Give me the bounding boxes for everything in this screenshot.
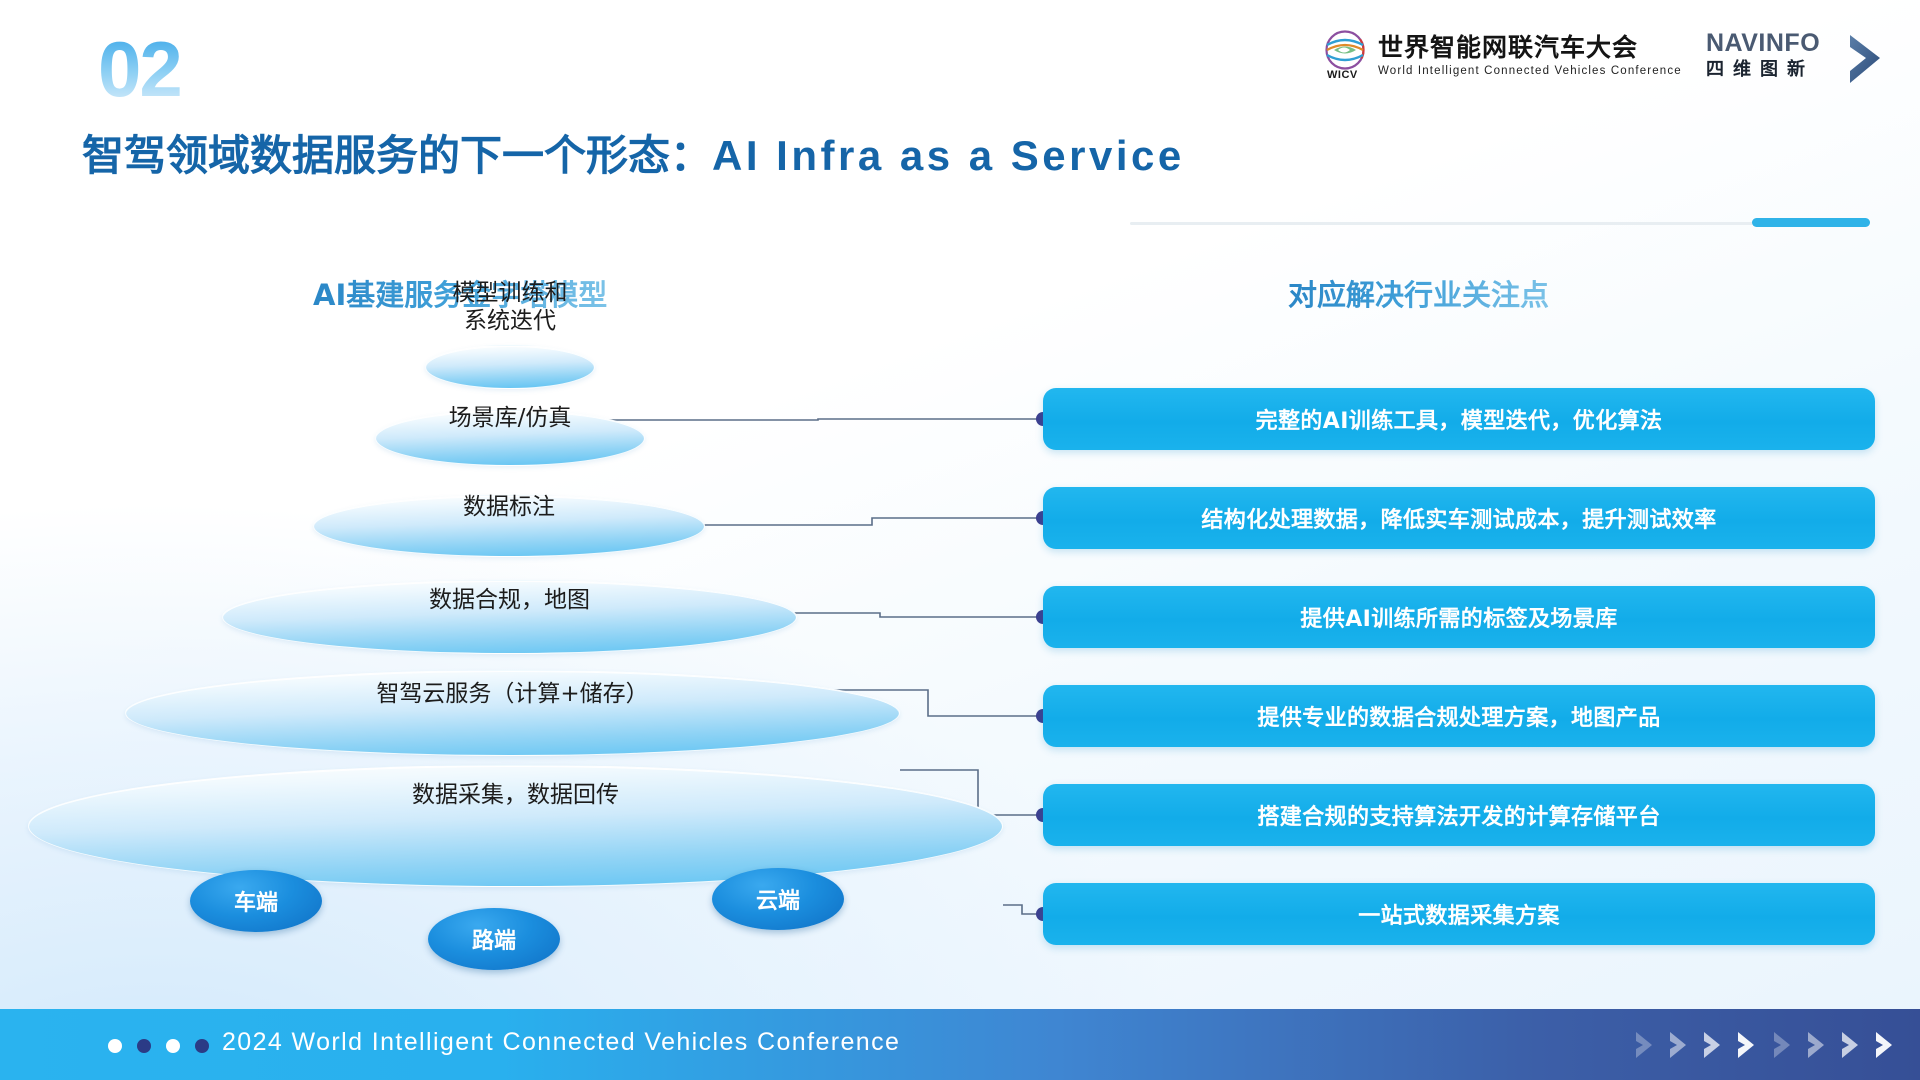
pyramid-layer-label: 数据合规，地图: [222, 586, 797, 614]
right-column-heading: 对应解决行业关注点: [1288, 272, 1549, 314]
section-number: 02: [98, 30, 181, 108]
footer-chevron-group: [1772, 1031, 1904, 1059]
pyramid-layer-label: 数据采集，数据回传: [28, 781, 1003, 809]
footer-dot: [137, 1039, 151, 1053]
chevron-right-icon: [1806, 1031, 1836, 1059]
footer-text: 2024 World Intelligent Connected Vehicle…: [222, 1028, 900, 1057]
title-divider-accent: [1752, 218, 1870, 227]
page-title-cn: 智驾领域数据服务的下一个形态：: [82, 131, 712, 180]
chevron-right-icon: [1874, 1031, 1904, 1059]
footer-dot: [108, 1039, 122, 1053]
navinfo-logo: NAVINFO 四维图新: [1706, 31, 1884, 87]
pyramid-layer-label: 场景库/仿真: [375, 404, 645, 432]
solution-bar[interactable]: 一站式数据采集方案: [1043, 883, 1875, 945]
page-title-en: AI Infra as a Service: [712, 132, 1185, 179]
pyramid-layer-data-compliance-map[interactable]: 数据合规，地图: [222, 580, 797, 654]
wicv-globe-icon: WICV: [1322, 30, 1368, 82]
pyramid-layer-label: 智驾云服务（计算+储存）: [125, 680, 900, 708]
wicv-title-cn: 世界智能网联汽车大会: [1378, 35, 1682, 61]
wicv-title-en: World Intelligent Connected Vehicles Con…: [1378, 65, 1682, 77]
chevron-right-icon: [1736, 1031, 1766, 1059]
solution-bar[interactable]: 提供专业的数据合规处理方案，地图产品: [1043, 685, 1875, 747]
pyramid-layer-label: 数据标注: [313, 493, 705, 521]
pyramid-layer-scenario-simulation[interactable]: 场景库/仿真: [375, 410, 645, 466]
pyramid-node-cloud[interactable]: 云端: [712, 868, 844, 930]
page-title: 智驾领域数据服务的下一个形态：AI Infra as a Service: [82, 122, 1185, 183]
footer-dot: [166, 1039, 180, 1053]
solution-bar[interactable]: 提供AI训练所需的标签及场景库: [1043, 586, 1875, 648]
chevron-right-icon: [1668, 1031, 1698, 1059]
solution-bar[interactable]: 搭建合规的支持算法开发的计算存储平台: [1043, 784, 1875, 846]
footer-dot: [195, 1039, 209, 1053]
chevron-right-icon: [1840, 1031, 1870, 1059]
pyramid-node-vehicle[interactable]: 车端: [190, 870, 322, 932]
pyramid-layer-data-annotation[interactable]: 数据标注: [313, 495, 705, 557]
wicv-abbr: WICV: [1327, 69, 1358, 81]
slide-footer: 2024 World Intelligent Connected Vehicle…: [0, 1009, 1920, 1080]
pyramid-node-roadside[interactable]: 路端: [428, 908, 560, 970]
pyramid-layer-data-collection[interactable]: 数据采集，数据回传: [28, 765, 1003, 887]
pyramid-layer-model-training[interactable]: 模型训练和 系统迭代: [425, 345, 595, 389]
solution-bar[interactable]: 结构化处理数据，降低实车测试成本，提升测试效率: [1043, 487, 1875, 549]
footer-chevron-group: [1634, 1031, 1766, 1059]
pyramid-diagram: 模型训练和 系统迭代 场景库/仿真 数据标注 数据合规，地图 智驾云服务（计算+…: [0, 330, 1010, 960]
pyramid-layer-ellipse: [425, 345, 595, 389]
slide-canvas: WICV 世界智能网联汽车大会 World Intelligent Connec…: [0, 0, 1920, 1080]
wicv-logo: WICV 世界智能网联汽车大会 World Intelligent Connec…: [1322, 30, 1682, 82]
footer-dots: [108, 1039, 209, 1053]
chevron-right-icon: [1772, 1031, 1802, 1059]
chevron-right-icon: [1702, 1031, 1732, 1059]
pyramid-layer-label: 模型训练和 系统迭代: [425, 279, 595, 335]
chevron-right-icon: [1634, 1031, 1664, 1059]
solution-bar[interactable]: 完整的AI训练工具，模型迭代，优化算法: [1043, 388, 1875, 450]
navinfo-chevron-icon: [1846, 33, 1886, 85]
pyramid-layer-cloud-service[interactable]: 智驾云服务（计算+储存）: [125, 670, 900, 756]
